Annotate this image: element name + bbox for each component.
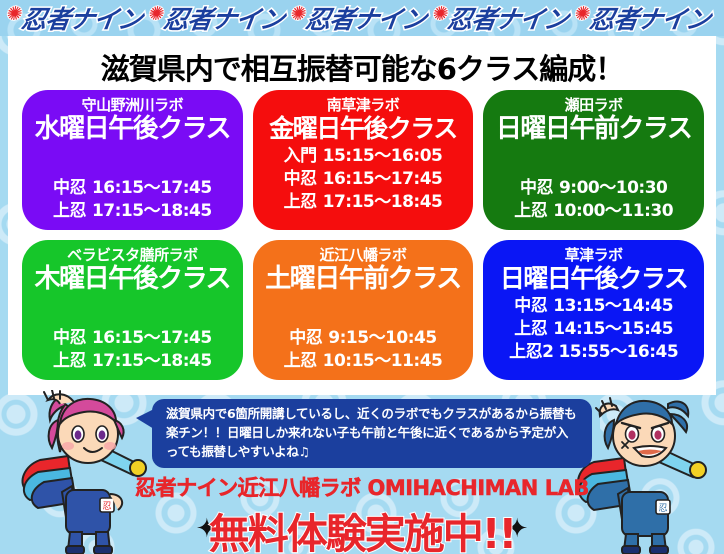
brand-logo-text: 忍者ナイン bbox=[445, 0, 570, 36]
lab-name-line: 忍者ナイン近江八幡ラボ OMIHACHIMAN LAB bbox=[0, 472, 724, 502]
class-level-label: 上忍 bbox=[53, 200, 87, 222]
brand-logo: ✺忍者ナイン bbox=[571, 0, 712, 36]
class-time-value: 17:15〜18:45 bbox=[92, 350, 212, 372]
class-level-label: 中忍 bbox=[284, 168, 318, 190]
free-trial-headline: 無料体験実施中!! bbox=[0, 500, 724, 554]
class-time-row: 上忍17:15〜18:45 bbox=[257, 191, 470, 213]
class-time-row: 中忍16:15〜17:45 bbox=[26, 177, 239, 199]
brand-logo-text: 忍者ナイン bbox=[587, 0, 712, 36]
class-time-row: 中忍16:15〜17:45 bbox=[257, 168, 470, 190]
class-time-value: 10:00〜11:30 bbox=[553, 200, 673, 222]
class-time-value: 16:15〜17:45 bbox=[92, 327, 212, 349]
brand-logo: ✺忍者ナイン bbox=[429, 0, 570, 36]
class-level-label: 上忍 bbox=[514, 200, 548, 222]
class-time-value: 17:15〜18:45 bbox=[323, 191, 443, 213]
shuriken-icon: ✺ bbox=[5, 3, 23, 25]
shuriken-icon: ✺ bbox=[431, 3, 449, 25]
brand-logo-text: 忍者ナイン bbox=[19, 0, 144, 36]
brand-logo: ✺忍者ナイン bbox=[3, 0, 144, 36]
class-level-label: 中忍 bbox=[289, 327, 323, 349]
shuriken-icon: ✺ bbox=[573, 3, 591, 25]
brand-logo: ✺忍者ナイン bbox=[145, 0, 286, 36]
class-card-times: 入門15:15〜16:05中忍16:15〜17:45上忍17:15〜18:45 bbox=[257, 145, 470, 213]
brand-logo-text: 忍者ナイン bbox=[303, 0, 428, 36]
class-card-day: 金曜日午後クラス bbox=[269, 115, 457, 143]
class-level-label: 上忍2 bbox=[509, 341, 553, 363]
brand-logo-text: 忍者ナイン bbox=[161, 0, 286, 36]
class-level-label: 入門 bbox=[284, 145, 318, 167]
class-card[interactable]: 瀬田ラボ日曜日午前クラス中忍9:00〜10:30上忍10:00〜11:30 bbox=[483, 90, 704, 230]
class-time-row: 中忍9:00〜10:30 bbox=[487, 177, 700, 199]
class-card-day: 日曜日午後クラス bbox=[500, 265, 688, 293]
class-time-value: 13:15〜14:45 bbox=[553, 295, 673, 317]
class-level-label: 上忍 bbox=[53, 350, 87, 372]
brand-logo: ✺忍者ナイン bbox=[287, 0, 428, 36]
class-level-label: 上忍 bbox=[514, 318, 548, 340]
class-time-value: 17:15〜18:45 bbox=[92, 200, 212, 222]
class-time-value: 16:15〜17:45 bbox=[92, 177, 212, 199]
class-time-value: 15:55〜16:45 bbox=[558, 341, 678, 363]
class-time-row: 中忍13:15〜14:45 bbox=[487, 295, 700, 317]
class-time-row: 中忍9:15〜10:45 bbox=[257, 327, 470, 349]
class-time-value: 10:15〜11:45 bbox=[323, 350, 443, 372]
class-time-row: 上忍17:15〜18:45 bbox=[26, 350, 239, 372]
bottom-banner: 忍者ナイン近江八幡ラボ OMIHACHIMAN LAB ✦ ✦ 無料体験実施中!… bbox=[0, 468, 724, 554]
speech-bubble: 滋賀県内で6箇所開講しているし、近くのラボでもクラスがあるから振替も楽チン！！日… bbox=[152, 399, 592, 468]
class-card[interactable]: 草津ラボ日曜日午後クラス中忍13:15〜14:45上忍14:15〜15:45上忍… bbox=[483, 240, 704, 380]
class-card-day: 土曜日午前クラス bbox=[265, 265, 460, 294]
page-title: 滋賀県内で相互振替可能な6クラス編成！ bbox=[8, 46, 716, 88]
class-time-value: 16:15〜17:45 bbox=[323, 168, 443, 190]
class-time-value: 14:15〜15:45 bbox=[553, 318, 673, 340]
class-level-label: 中忍 bbox=[53, 177, 87, 199]
class-card-times: 中忍9:00〜10:30上忍10:00〜11:30 bbox=[487, 177, 700, 222]
class-time-value: 9:15〜10:45 bbox=[328, 327, 436, 349]
class-card-lab: 草津ラボ bbox=[565, 246, 623, 265]
class-card-lab: 瀬田ラボ bbox=[565, 96, 623, 115]
class-time-row: 上忍10:00〜11:30 bbox=[487, 200, 700, 222]
class-card-day: 水曜日午後クラス bbox=[35, 115, 230, 144]
class-card-lab: ベラビスタ膳所ラボ bbox=[67, 246, 198, 265]
class-time-row: 上忍14:15〜15:45 bbox=[487, 318, 700, 340]
class-card-day: 木曜日午後クラス bbox=[35, 265, 230, 294]
class-time-row: 中忍16:15〜17:45 bbox=[26, 327, 239, 349]
class-time-row: 入門15:15〜16:05 bbox=[257, 145, 470, 167]
class-level-label: 中忍 bbox=[53, 327, 87, 349]
class-level-label: 上忍 bbox=[284, 350, 318, 372]
content-panel: 滋賀県内で相互振替可能な6クラス編成！ 守山野洲川ラボ水曜日午後クラス中忍16:… bbox=[8, 36, 716, 392]
class-card[interactable]: 近江八幡ラボ土曜日午前クラス中忍9:15〜10:45上忍10:15〜11:45 bbox=[253, 240, 474, 380]
logo-strip: ✺忍者ナイン✺忍者ナイン✺忍者ナイン✺忍者ナイン✺忍者ナイン bbox=[0, 0, 710, 36]
class-card-times: 中忍16:15〜17:45上忍17:15〜18:45 bbox=[26, 327, 239, 372]
shuriken-icon: ✺ bbox=[147, 3, 165, 25]
class-card-times: 中忍16:15〜17:45上忍17:15〜18:45 bbox=[26, 177, 239, 222]
class-level-label: 上忍 bbox=[284, 191, 318, 213]
class-card-lab: 近江八幡ラボ bbox=[319, 246, 406, 265]
class-card-lab: 守山野洲川ラボ bbox=[82, 96, 184, 115]
poster: ✺忍者ナイン✺忍者ナイン✺忍者ナイン✺忍者ナイン✺忍者ナイン 滋賀県内で相互振替… bbox=[0, 0, 724, 554]
class-level-label: 中忍 bbox=[514, 295, 548, 317]
header-banner: ✺忍者ナイン✺忍者ナイン✺忍者ナイン✺忍者ナイン✺忍者ナイン bbox=[0, 0, 724, 36]
class-card[interactable]: ベラビスタ膳所ラボ木曜日午後クラス中忍16:15〜17:45上忍17:15〜18… bbox=[22, 240, 243, 380]
class-card[interactable]: 南草津ラボ金曜日午後クラス入門15:15〜16:05中忍16:15〜17:45上… bbox=[253, 90, 474, 230]
shuriken-icon: ✺ bbox=[289, 3, 307, 25]
class-card[interactable]: 守山野洲川ラボ水曜日午後クラス中忍16:15〜17:45上忍17:15〜18:4… bbox=[22, 90, 243, 230]
class-card-times: 中忍9:15〜10:45上忍10:15〜11:45 bbox=[257, 327, 470, 372]
class-card-times: 中忍13:15〜14:45上忍14:15〜15:45上忍215:55〜16:45 bbox=[487, 295, 700, 363]
class-time-value: 9:00〜10:30 bbox=[559, 177, 667, 199]
class-time-row: 上忍17:15〜18:45 bbox=[26, 200, 239, 222]
class-time-row: 上忍215:55〜16:45 bbox=[487, 341, 700, 363]
class-card-lab: 南草津ラボ bbox=[327, 96, 400, 115]
class-card-day: 日曜日午前クラス bbox=[496, 115, 691, 144]
class-time-row: 上忍10:15〜11:45 bbox=[257, 350, 470, 372]
class-card-grid: 守山野洲川ラボ水曜日午後クラス中忍16:15〜17:45上忍17:15〜18:4… bbox=[22, 90, 704, 380]
class-time-value: 15:15〜16:05 bbox=[323, 145, 443, 167]
class-level-label: 中忍 bbox=[520, 177, 554, 199]
